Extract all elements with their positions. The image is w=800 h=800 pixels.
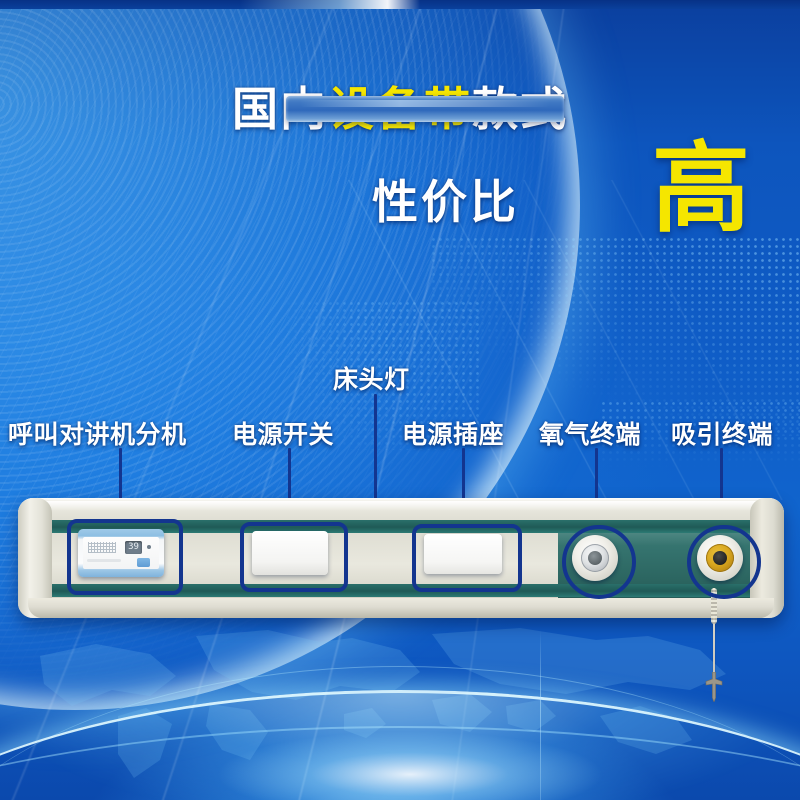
callout-label-intercom: 呼叫对讲机分机 [8, 415, 187, 451]
horizon-glow [150, 700, 670, 800]
headline-row2: 性价比 高 [0, 162, 800, 242]
pull-cord-handle-icon[interactable] [702, 672, 726, 702]
callout-label-suction: 吸引终端 [671, 415, 773, 451]
highlight-box-intercom [67, 519, 183, 595]
vertical-light-line [540, 630, 541, 800]
poster-canvas: 国内设备带款式 性价比 高 呼叫对讲机分机 电源开关 床头灯 电源插座 氧气终端… [0, 0, 800, 800]
highlight-circle-suction [687, 525, 761, 599]
highlight-circle-oxygen [562, 525, 636, 599]
callout-label-power-socket: 电源插座 [402, 415, 504, 451]
callout-label-bed-lamp: 床头灯 [333, 360, 410, 396]
highlight-box-power-switch [240, 522, 348, 592]
callout-label-power-switch: 电源开关 [232, 415, 334, 451]
panel-bottom-rail [28, 598, 774, 618]
top-band [0, 0, 800, 9]
callout-label-oxygen: 氧气终端 [539, 415, 641, 451]
panel-highlight [24, 501, 778, 511]
headline-line2: 性价比 [372, 166, 519, 232]
highlight-box-power-socket [412, 524, 522, 592]
headline-emphasis: 高 [652, 140, 750, 238]
bed-lamp-highlight [300, 100, 550, 107]
